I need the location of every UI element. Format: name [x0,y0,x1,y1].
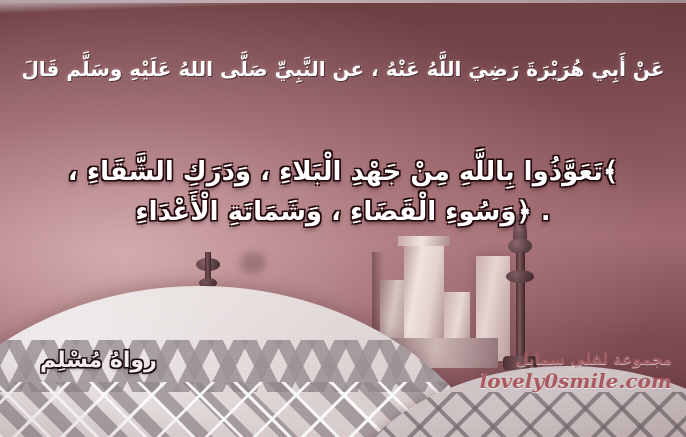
narrator-attribution: رواهُ مُسْلِم [40,348,157,373]
quote-line-1-text: تَعَوَّذُوا بِاللَّهِ مِنْ جَهْدِ الْبَل… [68,157,603,187]
watermark: مجموعة لفلي سمايل lovely0smile.com [480,350,672,393]
hadith-quote-line-2: . ﴿وَسُوءِ الْقَضَاءِ ، وَشَمَاتَةِ الْأ… [0,192,686,232]
watermark-arabic: مجموعة لفلي سمايل [480,350,672,368]
quote-line-2-text: وَسُوءِ الْقَضَاءِ ، وَشَمَاتَةِ الْأَعْ… [135,197,516,227]
hadith-isnad-line: عَنْ أَبِي هُرَيْرَةَ رَضِيَ اللَّهُ عَن… [0,57,686,81]
hadith-quote-line-1: ﴾تَعَوَّذُوا بِاللَّهِ مِنْ جَهْدِ الْبَ… [0,152,686,192]
hadith-quote-block: ﴾تَعَوَّذُوا بِاللَّهِ مِنْ جَهْدِ الْبَ… [0,152,686,233]
quote-close-bracket: ﴾ [603,157,618,187]
spire-bulb-lower [506,270,534,283]
hadith-image-card: عَنْ أَبِي هُرَيْرَةَ رَضِيَ اللَّهُ عَن… [0,0,686,437]
quote-open-bracket: ﴿ [517,197,532,227]
quote-period: . [541,197,551,227]
minaret-cap [398,236,450,246]
background-blur-blob [240,252,266,274]
watermark-site: lovely0smile.com [480,369,672,393]
